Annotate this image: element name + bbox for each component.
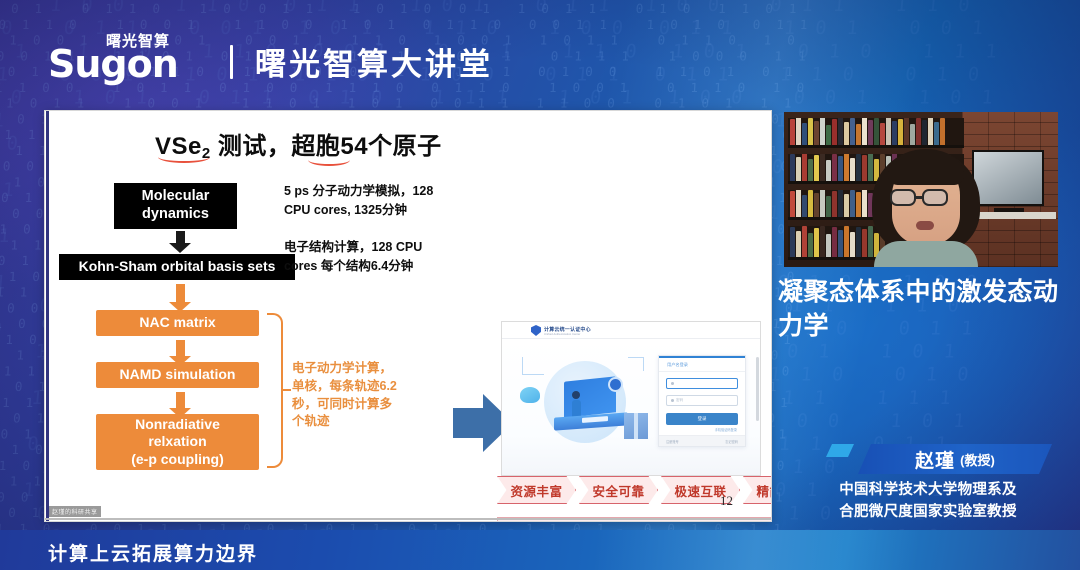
flow-box-label: Nonradiative relxation (e-p coupling): [131, 416, 224, 467]
feature-badge-security: 安全可靠: [579, 476, 658, 504]
portrait-shoulders: [874, 241, 978, 267]
login-footer: 注册账号 忘记密码: [659, 435, 745, 446]
title-underline-left: [158, 157, 210, 163]
sms-login-link[interactable]: 手机验证码登录: [659, 425, 745, 432]
sugon-logo: 曙光智算 Sugon: [48, 32, 216, 84]
flow-arrow-2-icon: [169, 284, 191, 312]
page-title: 曙光智算大讲堂: [255, 48, 493, 84]
brand-divider: [230, 45, 233, 79]
speaker-affiliation: 中国科学技术大学物理系及 合肥微尺度国家实验室教授: [782, 480, 1074, 524]
speaker-video[interactable]: [784, 112, 1058, 267]
password-placeholder: 密码: [676, 398, 683, 403]
flow-box-kohn-sham: Kohn-Sham orbital basis sets: [59, 254, 295, 280]
flow-box-nonradiative-relaxation: Nonradiative relxation (e-p coupling): [96, 414, 259, 470]
flow-box-label: NAMD simulation: [120, 366, 236, 383]
platform-illustration: [520, 353, 650, 449]
flow-arrow-1-icon: [169, 231, 191, 253]
flow-box-label: NAC matrix: [139, 314, 215, 331]
title-underline-right: [308, 160, 350, 166]
illustration-gift-icon: [624, 413, 648, 439]
platform-logo-subtext: Unified Authentication Center: [544, 333, 591, 336]
flow-box-label: Kohn-Sham orbital basis sets: [79, 258, 276, 275]
speaker-portrait: [866, 149, 986, 267]
flow-box-label: Molecular dynamics: [142, 188, 210, 223]
flow-box-nac-matrix: NAC matrix: [96, 310, 259, 336]
slide-left-rule: [46, 111, 49, 522]
glasses-bridge: [916, 196, 924, 199]
lock-icon: [671, 399, 674, 402]
speaker-badge: 赵瑾 (教授): [858, 444, 1052, 474]
portrait-bangs: [888, 155, 964, 185]
slide-watermark: 赵瑾的科研共享: [49, 506, 101, 517]
platform-scrollbar[interactable]: [756, 357, 759, 421]
portrait-mouth: [916, 221, 934, 230]
login-submit-button[interactable]: 登录: [666, 413, 738, 425]
speaker-role: (教授): [960, 450, 995, 469]
login-tab[interactable]: 用户名登录: [659, 358, 745, 372]
presentation-slide[interactable]: VSe2 测试，超胞54个原子 Molecular dynamics Kohn-…: [44, 110, 772, 522]
brand-lockup: 曙光智算 Sugon 曙光智算大讲堂: [48, 32, 493, 84]
illustration-triangle-2: [628, 357, 644, 371]
illustration-badge-icon: [608, 377, 623, 392]
illustration-bulb-icon: [520, 387, 540, 403]
flow-box-molecular-dynamics: Molecular dynamics: [114, 183, 237, 229]
talk-title: 凝聚态体系中的激发态动力学: [778, 276, 1074, 343]
flow-brace-tick: [282, 389, 291, 391]
bookshelf-row-1: [788, 118, 964, 148]
speaker-name: 赵瑾: [915, 446, 955, 473]
flow-box-namd-simulation: NAMD simulation: [96, 362, 259, 388]
footer-tagline: 计算上云拓展算力边界: [48, 539, 258, 566]
shield-icon: [531, 325, 541, 336]
feature-badge-ops: 精简运维: [743, 476, 772, 504]
note-md: 5 ps 分子动力学模拟，128 CPU cores, 1325分钟: [284, 182, 474, 219]
slide-bottom-rule: [45, 518, 772, 520]
platform-body: 用户名登录 密码 登录 手机验证码登录 注册账号 忘记密码: [502, 339, 760, 476]
register-link[interactable]: 注册账号: [666, 439, 679, 444]
platform-screenshot[interactable]: 计算云统一认证中心 Unified Authentication Center: [501, 321, 761, 476]
password-field[interactable]: 密码: [666, 395, 738, 406]
username-field[interactable]: [666, 378, 738, 389]
brand-name-en: Sugon: [48, 44, 178, 84]
user-icon: [671, 382, 674, 385]
note-electronic-structure: 电子结构计算，128 CPU cores 每个结构6.4分钟: [284, 238, 484, 275]
illustration-triangle-1: [522, 357, 544, 375]
slide-page-number: 12: [720, 493, 733, 509]
platform-logo-text: 计算云统一认证中心: [544, 326, 591, 333]
flow-brace: [267, 313, 283, 468]
platform-logo: 计算云统一认证中心 Unified Authentication Center: [531, 325, 591, 336]
slide-title-main: VSe: [155, 133, 202, 160]
note-electron-dynamics: 电子动力学计算， 单核，每条轨迹6.2 秒，可同时计算多 个轨迹: [292, 360, 422, 431]
page-header: 曙光智算 Sugon 曙光智算大讲堂: [0, 0, 1080, 104]
platform-header: 计算云统一认证中心 Unified Authentication Center: [502, 322, 760, 339]
speaker-badge-accent: [826, 444, 854, 457]
feature-badge-resources: 资源丰富: [497, 476, 576, 504]
glasses-left-lens-icon: [890, 189, 916, 206]
slide-title-rest: 测试，超胞54个原子: [211, 133, 442, 160]
login-card[interactable]: 用户名登录 密码 登录 手机验证码登录 注册账号 忘记密码: [658, 355, 746, 447]
page-footer: 计算上云拓展算力边界: [0, 530, 1080, 570]
forgot-password-link[interactable]: 忘记密码: [725, 439, 738, 444]
screen-root: 1 0 1 0 1 1 0 1 0 0 1 1 1 0 1 0 0 1 1 0 …: [0, 0, 1080, 570]
glasses-right-lens-icon: [922, 189, 948, 206]
slide-title: VSe2 测试，超胞54个原子: [155, 126, 442, 161]
